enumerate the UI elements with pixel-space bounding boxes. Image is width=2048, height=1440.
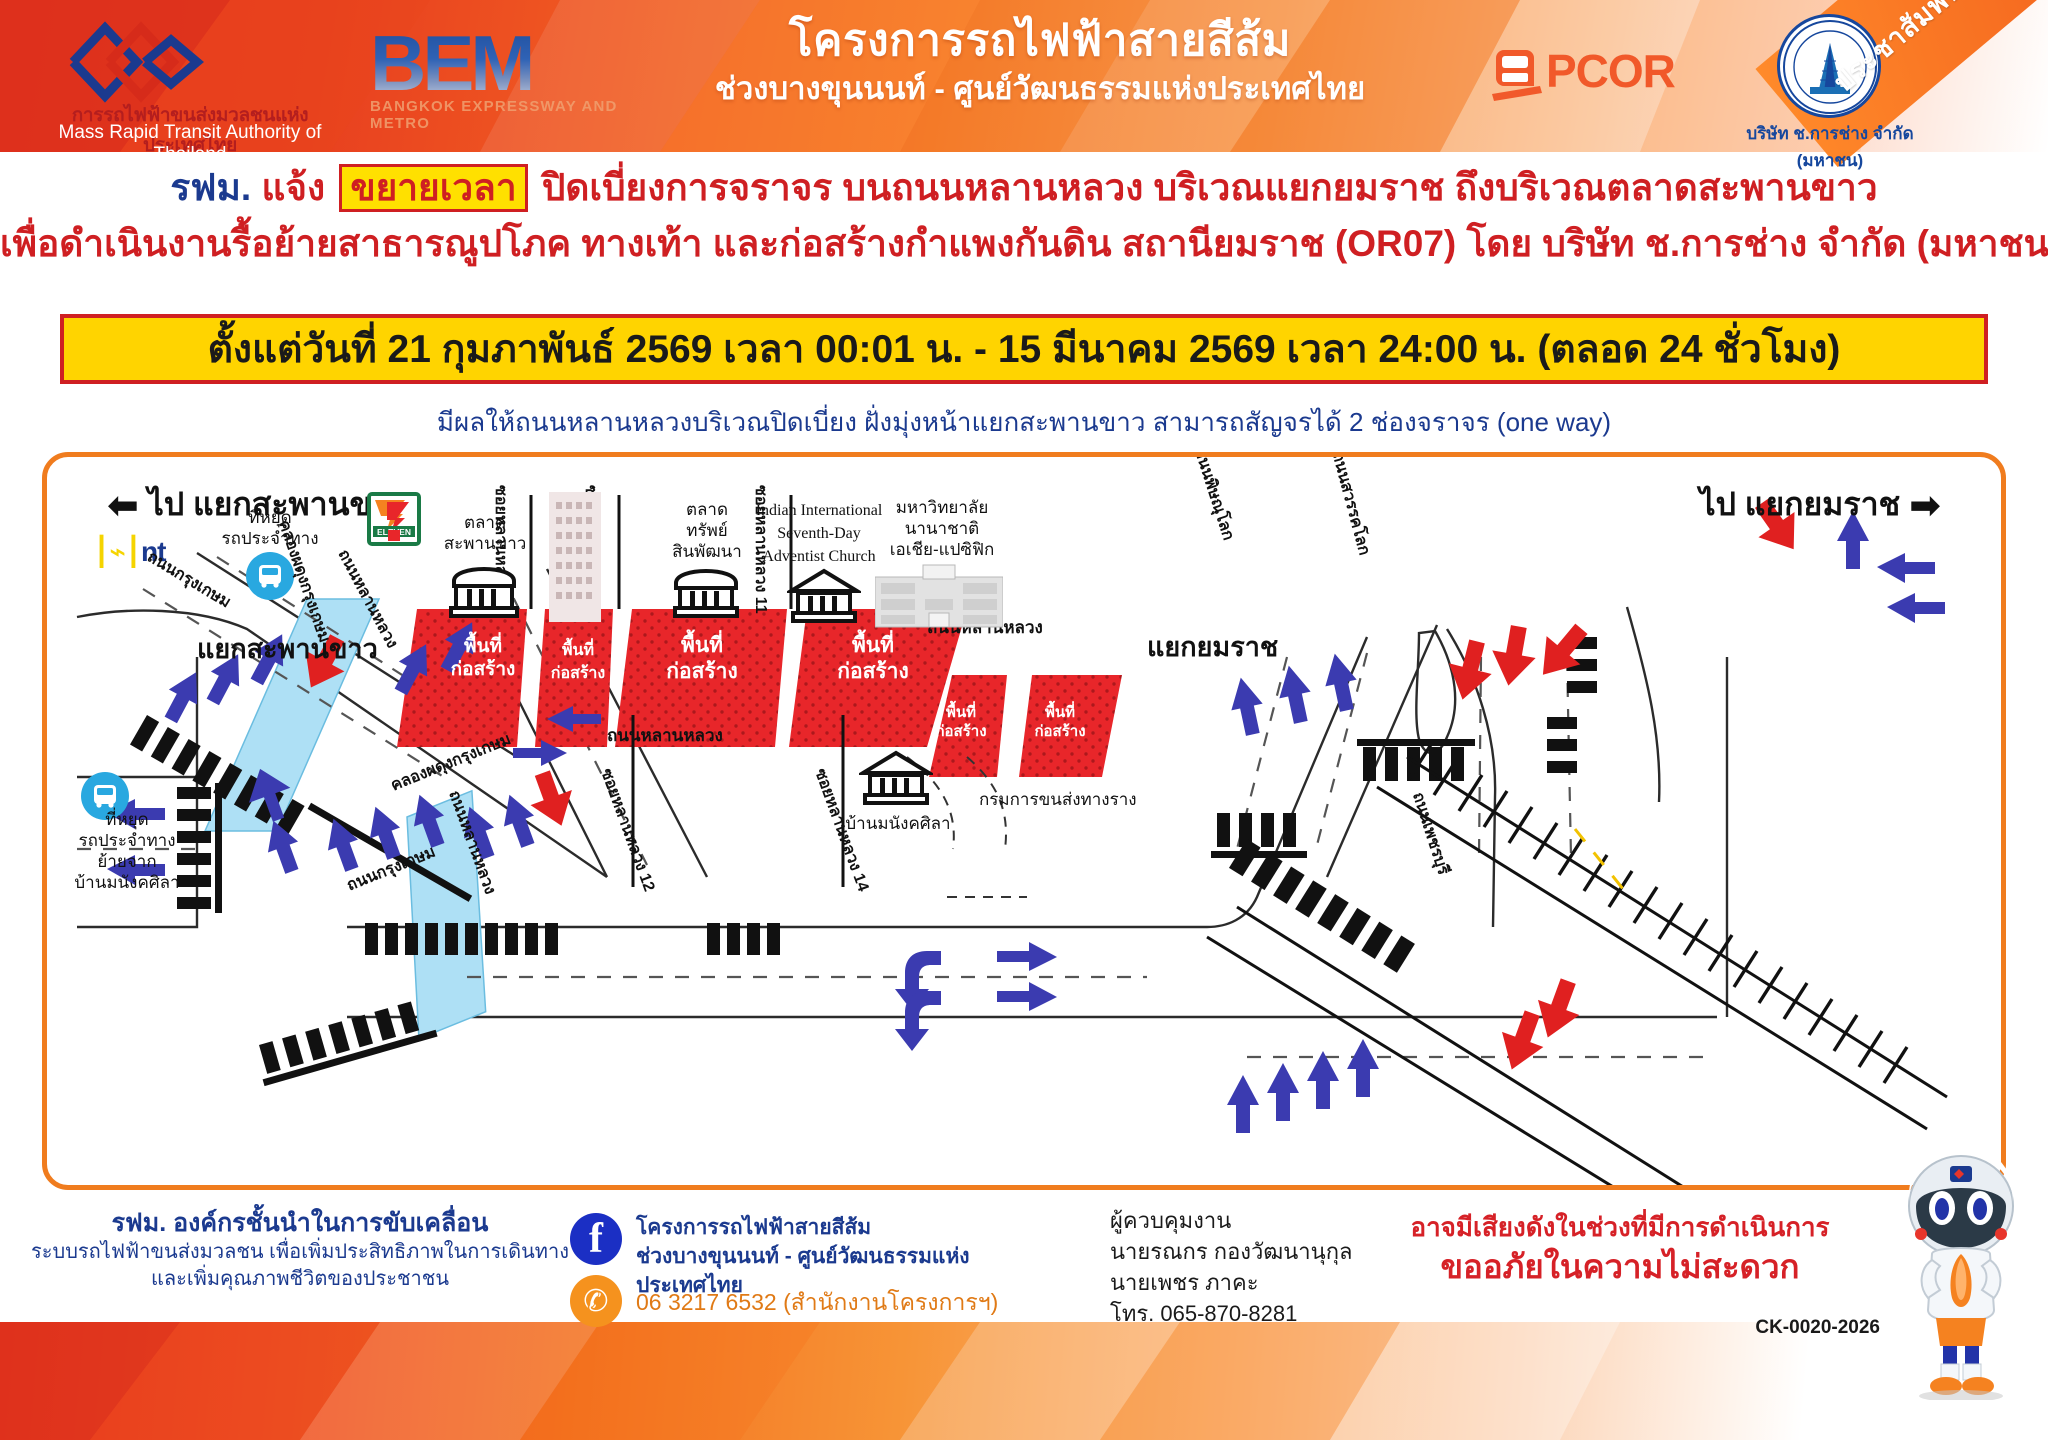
bem-wordmark: BEM (370, 22, 640, 104)
facebook-icon[interactable]: f (570, 1213, 622, 1265)
arrow-left-icon: ⬅ (107, 485, 139, 527)
university-label: มหาวิทยาลัย นานาชาติ เอเชีย-แปซิฟิก (877, 497, 1007, 560)
supervisor-name-2: นายเพชร ภาคะ (1110, 1267, 1353, 1298)
intersection-yommarat: แยกยมราช (1147, 637, 1278, 658)
seven-eleven-icon: ELEVEN (367, 492, 421, 546)
announcement-line-2: เพื่อดำเนินงานรื้อย้ายสาธารณูปโภค ทางเท้… (0, 216, 2048, 272)
road-lanluang-center: ถนนหลานหลวง (607, 725, 723, 746)
supervisor-block: ผู้ควบคุมงาน นายรณกร กองวัฒนานุกุล นายเพ… (1110, 1205, 1353, 1329)
mrta-diamond-logo (65, 20, 215, 104)
bus-stop-top-label: ที่หยุด รถประจำทาง (205, 507, 335, 549)
zone-2 (535, 609, 613, 747)
intersection-saphan-khao: แยกสะพานขาว (197, 639, 378, 660)
poster-footer: รฟม. องค์กรชั้นนำในการขับเคลื่อน ระบบรถไ… (0, 1205, 2048, 1323)
poster-page: ประชาสัมพันธ์ การรถไฟฟ้าขนส่งมวลชนแห่งปร… (0, 0, 2048, 1440)
apology-line-2: ขออภัยในความไม่สะดวก (1360, 1245, 1880, 1289)
announce-line1-rest: ปิดเบี่ยงการจราจร บนถนนหลานหลวง บริเวณแย… (542, 167, 1878, 208)
pcor-wordmark: PCOR (1546, 44, 1675, 98)
phone-icon[interactable]: ✆ (570, 1275, 622, 1327)
train-icon (1490, 46, 1550, 100)
announce-verb: แจ้ง (261, 167, 325, 208)
vision-line-3: และเพิ่มคุณภาพชีวิตของประชาชน (30, 1266, 570, 1293)
bem-logo: BEM BANGKOK EXPRESSWAY AND METRO (370, 22, 640, 132)
announcement-line-1: รฟม. แจ้ง ขยายเวลา ปิดเบี่ยงการจราจร บนถ… (0, 160, 2048, 216)
extension-highlight: ขยายเวลา (339, 164, 527, 212)
vision-line-1: รฟม. องค์กรชั้นนำในการขับเคลื่อน (30, 1207, 570, 1239)
document-code: CK-0020-2026 (1755, 1317, 1880, 1339)
rail-dept-label: กรมการขนส่งทางราง (979, 789, 1137, 810)
apology-line-1: อาจมีเสียงดังในช่วงที่มีการดำเนินการ (1360, 1209, 1880, 1245)
railway-tracks (1207, 743, 1947, 1190)
supervisor-phone: โทร. 065-870-8281 (1110, 1298, 1353, 1329)
direction-right: ไป แยกยมราช ➡ (1700, 479, 1942, 530)
agency-abbrev: รฟม. (170, 167, 251, 208)
announcement-block: รฟม. แจ้ง ขยายเวลา ปิดเบี่ยงการจราจร บนถ… (0, 160, 2048, 272)
zone-6 (1019, 675, 1122, 777)
project-title-line2: ช่วงบางขุนนนท์ - ศูนย์วัฒนธรรมแห่งประเทศ… (640, 68, 1440, 110)
market-saphan-khao-label: ตลาด สะพานขาว (425, 512, 545, 554)
bus-stop-bottom-label: ที่หยุด รถประจำทาง ย้ายจาก บ้านมนังคศิลา (47, 809, 207, 893)
project-title-line1: โครงการรถไฟฟ้าสายสีส้ม (640, 14, 1440, 68)
project-title: โครงการรถไฟฟ้าสายสีส้ม ช่วงบางขุนนนท์ - … (640, 14, 1440, 110)
poster-header: ประชาสัมพันธ์ การรถไฟฟ้าขนส่งมวลชนแห่งปร… (0, 0, 2048, 152)
footer-background (0, 1322, 2048, 1440)
robot-mascot-icon (1888, 1150, 2034, 1400)
date-range-text: ตั้งแต่วันที่ 21 กุมภาพันธ์ 2569 เวลา 00… (208, 318, 1841, 380)
vision-statement: รฟม. องค์กรชั้นนำในการขับเคลื่อน ระบบรถไ… (30, 1207, 570, 1293)
oneway-note: มีผลให้ถนนหลานหลวงบริเวณปิดเบี่ยง ฝั่งมุ… (0, 402, 2048, 443)
supervisor-name-1: นายรณกร กองวัฒนานุกุล (1110, 1236, 1353, 1267)
bem-subtitle: BANGKOK EXPRESSWAY AND METRO (370, 98, 640, 132)
ban-manangkhasila-label: บ้านมนังคศิลา (833, 813, 963, 834)
project-phone: 06 3217 6532 (สำนักงานโครงการฯ) (636, 1285, 998, 1321)
mrta-logo: การรถไฟฟ้าขนส่งมวลชนแห่งประเทศไทย Mass R… (25, 18, 355, 138)
arrow-right-icon: ➡ (1909, 485, 1941, 527)
pcor-logo: PCOR (1490, 38, 1700, 108)
supervisor-title: ผู้ควบคุมงาน (1110, 1205, 1353, 1236)
vision-line-2: ระบบรถไฟฟ้าขนส่งมวลชน เพื่อเพิ่มประสิทธิ… (30, 1239, 570, 1266)
traffic-diversion-map[interactable]: ⬅ ไป แยกสะพานขาว ไป แยกยมราช ➡ ⎮⌁⎮nt ELE… (42, 452, 2006, 1190)
date-banner: ตั้งแต่วันที่ 21 กุมภาพันธ์ 2569 เวลา 00… (60, 314, 1988, 384)
apology-block: อาจมีเสียงดังในช่วงที่มีการดำเนินการ ขออ… (1360, 1209, 1880, 1289)
